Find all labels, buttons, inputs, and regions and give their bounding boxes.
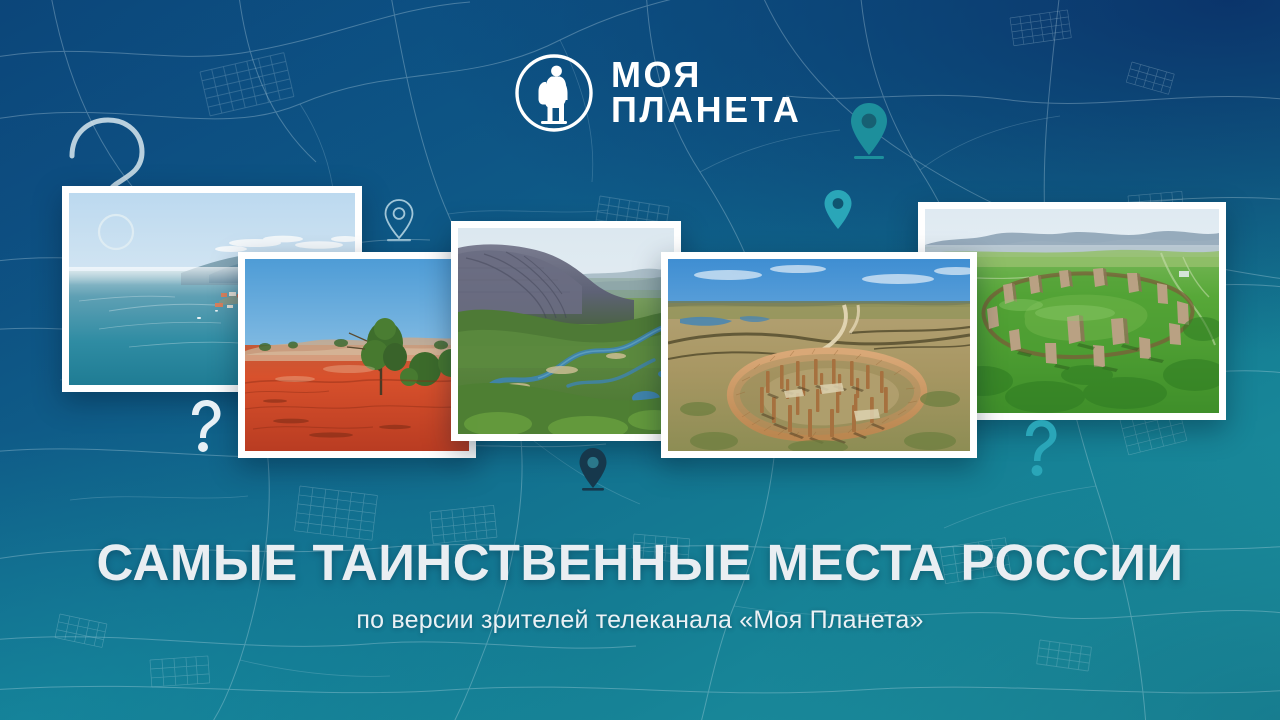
map-pin-icon <box>820 188 856 234</box>
plateau-river-valley-photo <box>458 228 674 434</box>
map-pin-outline-icon <box>380 196 418 244</box>
brand-name-line2: ПЛАНЕТА <box>611 93 801 128</box>
brand-wordmark: МОЯ ПЛАНЕТА <box>611 58 801 128</box>
archaeological-wooden-posts-photo <box>668 259 970 451</box>
poster-canvas: МОЯ ПЛАНЕТА САМЫЕ ТАИНСТВЕННЫЕ МЕСТА РОС… <box>0 0 1280 720</box>
question-mark-icon <box>1018 418 1064 478</box>
brand-name-line1: МОЯ <box>611 58 801 93</box>
headline-block: САМЫЕ ТАИНСТВЕННЫЕ МЕСТА РОССИИ по верси… <box>0 536 1280 635</box>
hiker-in-circle-icon <box>513 52 595 134</box>
brand-logo[interactable]: МОЯ ПЛАНЕТА <box>513 52 801 134</box>
map-pin-icon <box>575 446 611 494</box>
question-mark-icon <box>185 398 227 454</box>
photo-card-wooden-posts[interactable] <box>661 252 977 458</box>
map-pin-icon <box>845 100 893 162</box>
photo-card-plateau-river[interactable] <box>451 221 681 441</box>
photo-card-red-desert[interactable] <box>238 252 476 458</box>
red-earth-desert-photo <box>245 259 469 451</box>
page-subtitle: по версии зрителей телеканала «Моя Плане… <box>0 606 1280 635</box>
page-title: САМЫЕ ТАИНСТВЕННЫЕ МЕСТА РОССИИ <box>0 536 1280 590</box>
